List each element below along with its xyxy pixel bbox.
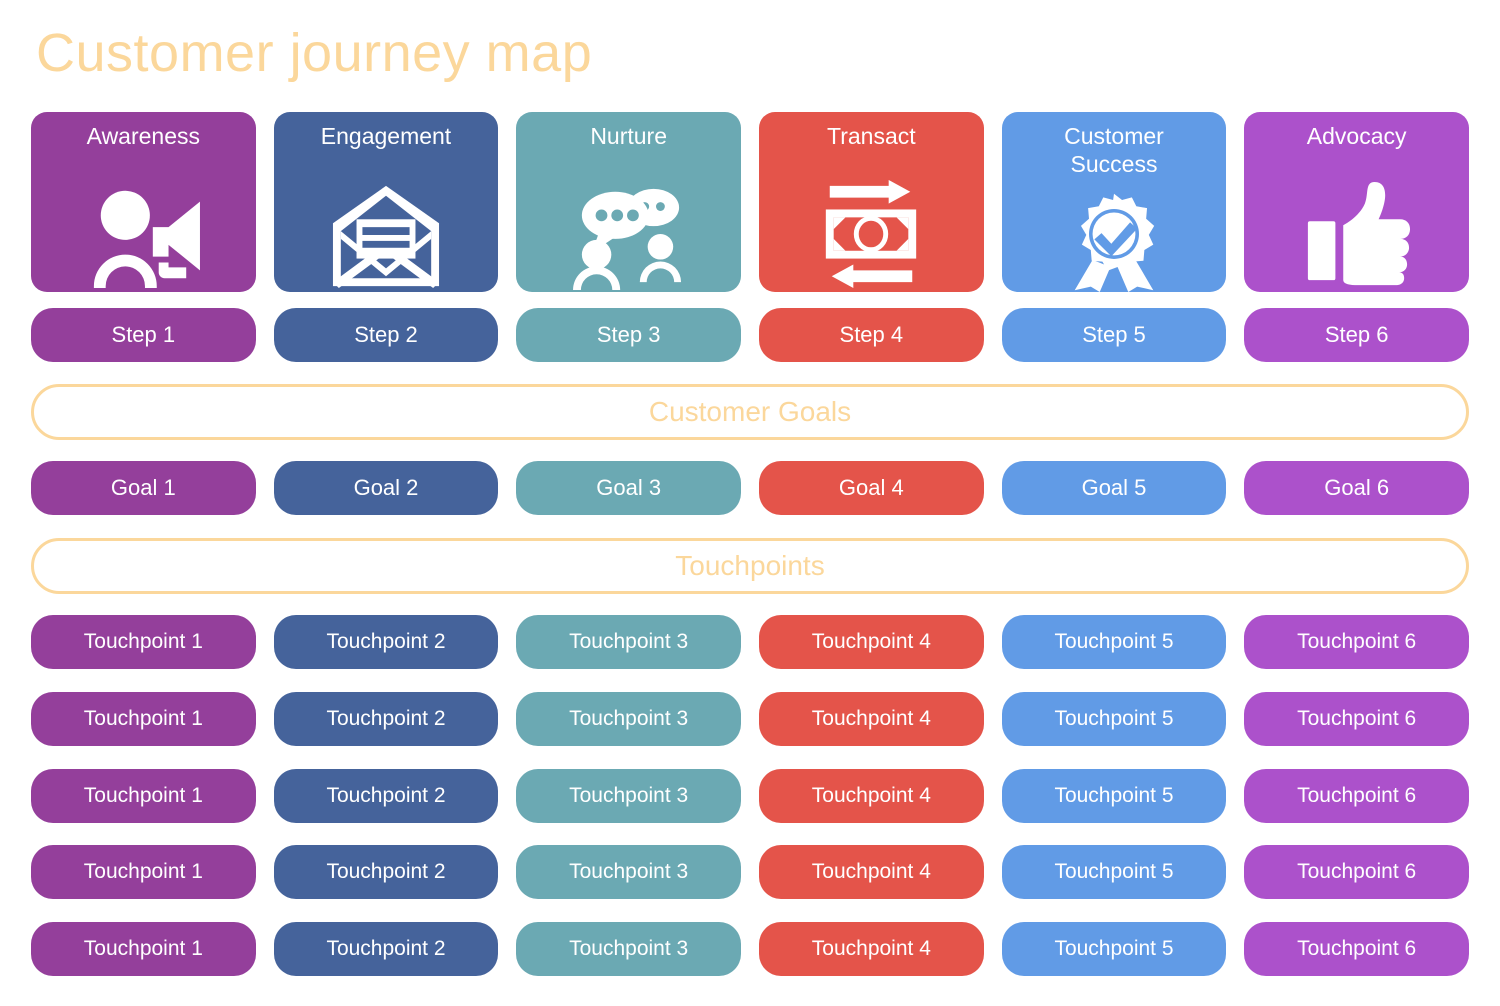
goal-pill[interactable]: Goal 1 [31,461,256,515]
touchpoint-pill[interactable]: Touchpoint 6 [1244,922,1469,976]
step-pill[interactable]: Step 6 [1244,308,1469,362]
touchpoint-pill[interactable]: Touchpoint 6 [1244,769,1469,823]
section-banner-label: Customer Goals [649,396,851,428]
touchpoint-pill[interactable]: Touchpoint 3 [516,769,741,823]
stage-card-customer-success[interactable]: Customer Success [1002,112,1227,292]
stage-card-label: Transact [821,122,922,150]
megaphone-icon [84,180,202,290]
touchpoint-pill[interactable]: Touchpoint 1 [31,922,256,976]
goal-pill[interactable]: Goal 5 [1002,461,1227,515]
goal-pill[interactable]: Goal 6 [1244,461,1469,515]
touchpoint-pill[interactable]: Touchpoint 2 [274,769,499,823]
step-pill[interactable]: Step 1 [31,308,256,362]
stage-card-engagement[interactable]: Engagement [274,112,499,292]
step-pill-row: Step 1 Step 2 Step 3 Step 4 Step 5 Step … [31,308,1469,362]
stage-card-transact[interactable]: Transact [759,112,984,292]
touchpoint-pill[interactable]: Touchpoint 5 [1002,692,1227,746]
goal-pill[interactable]: Goal 2 [274,461,499,515]
touchpoint-pill[interactable]: Touchpoint 3 [516,615,741,669]
step-pill[interactable]: Step 2 [274,308,499,362]
touchpoint-pill[interactable]: Touchpoint 2 [274,615,499,669]
stage-card-advocacy[interactable]: Advocacy [1244,112,1469,292]
touchpoint-pill[interactable]: Touchpoint 4 [759,692,984,746]
touchpoint-pill[interactable]: Touchpoint 4 [759,769,984,823]
touchpoint-pill[interactable]: Touchpoint 1 [31,769,256,823]
touchpoint-row: Touchpoint 1 Touchpoint 2 Touchpoint 3 T… [31,692,1469,746]
goal-pill[interactable]: Goal 4 [759,461,984,515]
stage-card-label: Engagement [315,122,457,150]
touchpoint-row: Touchpoint 1 Touchpoint 2 Touchpoint 3 T… [31,922,1469,976]
touchpoint-pill[interactable]: Touchpoint 2 [274,692,499,746]
touchpoint-pill[interactable]: Touchpoint 3 [516,692,741,746]
thumbs-up-icon [1298,180,1416,290]
step-pill[interactable]: Step 5 [1002,308,1227,362]
section-banner-customer-goals: Customer Goals [31,384,1469,440]
stage-card-label: Nurture [584,122,673,150]
touchpoint-pill[interactable]: Touchpoint 1 [31,615,256,669]
goal-pill[interactable]: Goal 3 [516,461,741,515]
money-exchange-icon [812,180,930,290]
touchpoint-row: Touchpoint 1 Touchpoint 2 Touchpoint 3 T… [31,845,1469,899]
page-title: Customer journey map [36,22,592,84]
touchpoint-pill[interactable]: Touchpoint 6 [1244,692,1469,746]
stage-card-label: Customer Success [1058,122,1170,178]
award-badge-check-icon [1055,192,1173,292]
open-envelope-icon [327,180,445,290]
stage-card-nurture[interactable]: Nurture [516,112,741,292]
touchpoint-pill[interactable]: Touchpoint 5 [1002,845,1227,899]
touchpoint-pill[interactable]: Touchpoint 3 [516,922,741,976]
touchpoint-pill[interactable]: Touchpoint 4 [759,615,984,669]
touchpoint-pill[interactable]: Touchpoint 3 [516,845,741,899]
touchpoint-row: Touchpoint 1 Touchpoint 2 Touchpoint 3 T… [31,615,1469,669]
step-pill[interactable]: Step 3 [516,308,741,362]
touchpoint-pill[interactable]: Touchpoint 5 [1002,615,1227,669]
touchpoint-row: Touchpoint 1 Touchpoint 2 Touchpoint 3 T… [31,769,1469,823]
touchpoint-pill[interactable]: Touchpoint 5 [1002,922,1227,976]
touchpoint-pill[interactable]: Touchpoint 2 [274,845,499,899]
stage-card-row: Awareness Engagement Nurture [31,112,1469,292]
goal-pill-row: Goal 1 Goal 2 Goal 3 Goal 4 Goal 5 Goal … [31,461,1469,515]
section-banner-label: Touchpoints [675,550,824,582]
step-pill[interactable]: Step 4 [759,308,984,362]
section-banner-touchpoints: Touchpoints [31,538,1469,594]
touchpoint-pill[interactable]: Touchpoint 4 [759,922,984,976]
stage-card-awareness[interactable]: Awareness [31,112,256,292]
touchpoint-pill[interactable]: Touchpoint 1 [31,692,256,746]
stage-card-label: Advocacy [1301,122,1413,150]
chat-bubbles-icon [570,180,688,290]
touchpoint-pill[interactable]: Touchpoint 6 [1244,845,1469,899]
touchpoint-pill[interactable]: Touchpoint 6 [1244,615,1469,669]
customer-journey-map: Customer journey map Awareness Engagemen… [0,0,1500,1006]
stage-card-label: Awareness [81,122,206,150]
touchpoint-pill[interactable]: Touchpoint 2 [274,922,499,976]
touchpoint-pill[interactable]: Touchpoint 1 [31,845,256,899]
touchpoint-pill[interactable]: Touchpoint 4 [759,845,984,899]
touchpoint-pill[interactable]: Touchpoint 5 [1002,769,1227,823]
